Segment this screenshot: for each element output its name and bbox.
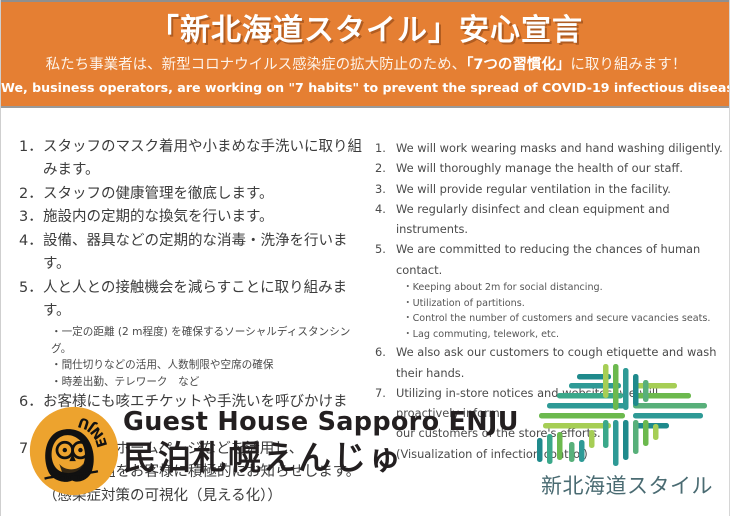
brand-name-japanese: 民泊札幌えんじゅ [123, 437, 523, 480]
list-item-number: 1． [19, 136, 43, 159]
subtitle-japanese: 私たち事業者は、新型コロナウイルス感染症の拡大防止のため、「7つの習慣化」に取り… [1, 50, 730, 75]
list-item: 4. We regularly disinfect and clean equi… [375, 199, 723, 240]
list-item-label: 人と人との接触機会を減らすことに取り組みます。 [43, 277, 363, 324]
list-item-number: 5． [19, 277, 43, 300]
hokkaido-style-logo: 新北海道スタイル [529, 362, 725, 514]
sub-list-item: ・Utilization of partitions. [403, 296, 723, 312]
list-item-number: 4． [19, 230, 43, 253]
list-item-number: 1. [375, 138, 396, 158]
list-item-label: We will work wearing masks and hand wash… [396, 138, 723, 158]
list-item-label: 設備、器具などの定期的な消毒・洗浄を行います。 [43, 230, 363, 277]
subtitle-japanese-pre: 私たち事業者は、新型コロナウイルス感染症の拡大防止のため、 [46, 57, 467, 73]
list-item-label: We regularly disinfect and clean equipme… [396, 199, 723, 240]
hokkaido-style-label: 新北海道スタイル [529, 474, 725, 499]
list-item: 5． 人と人との接触機会を減らすことに取り組みます。 [19, 277, 363, 324]
brand-block: Guest House Sapporo ENJU 民泊札幌えんじゅ [123, 408, 523, 480]
subtitle-japanese-emphasis: 「7つの習慣化」 [466, 57, 570, 73]
list-item-number: 2． [19, 183, 43, 206]
sub-list-item: ・Keeping about 2m for social distancing. [403, 280, 723, 296]
subtitle-japanese-post: に取り組みます！ [570, 57, 686, 73]
list-item-number: 5. [375, 239, 396, 259]
list-item: 1. We will work wearing masks and hand w… [375, 138, 723, 158]
brand-name-english: Guest House Sapporo ENJU [123, 408, 523, 437]
list-item-label: We are committed to reducing the chances… [396, 239, 723, 280]
list-item: 1． スタッフのマスク着用や小まめな手洗いに取り組みます。 [19, 136, 363, 183]
list-item: 3． 施設内の定期的な換気を行います。 [19, 206, 363, 229]
list-item-label: We will provide regular ventilation in t… [396, 179, 723, 199]
english-commitments-column: 1. We will work wearing masks and hand w… [369, 110, 730, 360]
list-item-label: We will thoroughly manage the health of … [396, 158, 723, 178]
list-item-label: スタッフの健康管理を徹底します。 [43, 183, 363, 206]
list-item-number: 3. [375, 179, 396, 199]
body-columns: 1． スタッフのマスク着用や小まめな手洗いに取り組みます。 2． スタッフの健康… [1, 110, 730, 360]
subtitle-english: We, business operators, are working on "… [1, 74, 730, 95]
list-item-number: 3． [19, 206, 43, 229]
list-item: 2． スタッフの健康管理を徹底します。 [19, 183, 363, 206]
sub-list-item: ・Control the number of customers and sec… [403, 311, 723, 327]
list-item: 5. We are committed to reducing the chan… [375, 239, 723, 280]
list-item-number: 4. [375, 199, 396, 219]
header-banner: 「新北海道スタイル」安心宣言 私たち事業者は、新型コロナウイルス感染症の拡大防止… [1, 0, 730, 108]
footer: ENJU Guest House Sapporo ENJU 民泊札幌えんじゅ [1, 360, 730, 516]
list-item-label: 施設内の定期的な換気を行います。 [43, 206, 363, 229]
list-item: 3. We will provide regular ventilation i… [375, 179, 723, 199]
list-item: 4． 設備、器具などの定期的な消毒・洗浄を行います。 [19, 230, 363, 277]
owl-logo-icon: ENJU [28, 405, 120, 497]
japanese-commitments-column: 1． スタッフのマスク着用や小まめな手洗いに取り組みます。 2． スタッフの健康… [1, 110, 369, 360]
sub-list-item: ・Lag commuting, telework, etc. [403, 327, 723, 343]
list-item-number: 2. [375, 158, 396, 178]
sub-list-item: ・一定の距離 (2 m程度) を確保するソーシャルディスタンシング。 [51, 324, 363, 357]
hokkaido-style-mark-icon [529, 362, 725, 474]
poster-root: 「新北海道スタイル」安心宣言 私たち事業者は、新型コロナウイルス感染症の拡大防止… [0, 0, 730, 516]
list-item-label: スタッフのマスク着用や小まめな手洗いに取り組みます。 [43, 136, 363, 183]
page-title: 「新北海道スタイル」安心宣言 [1, 0, 730, 50]
list-item: 2. We will thoroughly manage the health … [375, 158, 723, 178]
